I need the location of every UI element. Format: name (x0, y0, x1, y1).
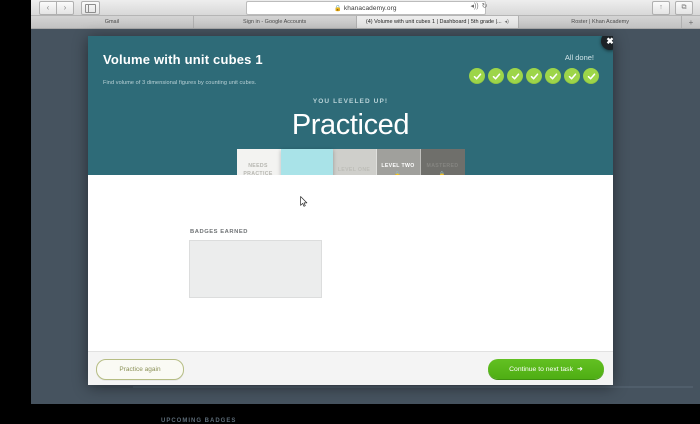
tab-roster-khan-academy[interactable]: Roster | Khan Academy (519, 16, 682, 28)
screen: UPCOMING BADGES ‹ › 🔒 khanacademy.org ◂)… (0, 0, 700, 404)
tab-label: Roster | Khan Academy (571, 19, 629, 25)
continue-button-label: Continue to next task (509, 366, 573, 373)
modal-header: Volume with unit cubes 1 Find volume of … (88, 36, 613, 175)
arrow-right-icon: ➜ (577, 365, 583, 373)
level-tile-label: LEVEL TWO (381, 163, 414, 171)
level-tile-label: LEVEL ONE (338, 167, 370, 175)
continue-to-next-task-button[interactable]: Continue to next task ➜ (488, 359, 604, 379)
tab-volume-unit-cubes[interactable]: (4) Volume with unit cubes 1 | Dashboard… (357, 16, 520, 28)
modal-footer: Practice again Continue to next task ➜ (88, 351, 613, 385)
back-button[interactable]: ‹ (39, 1, 57, 15)
level-name-heading: Practiced (88, 109, 613, 142)
tab-google-signin[interactable]: Sign in - Google Accounts (194, 16, 357, 28)
check-icon (545, 68, 561, 84)
practice-again-button[interactable]: Practice again (96, 359, 184, 380)
progress-checks (469, 68, 599, 84)
tab-strip: Gmail Sign in - Google Accounts (4) Volu… (31, 16, 700, 28)
mouse-cursor (300, 196, 308, 207)
upcoming-badges-label: UPCOMING BADGES (161, 418, 236, 424)
check-icon (526, 68, 542, 84)
tab-label: Sign in - Google Accounts (243, 19, 306, 25)
browser-toolbar: ‹ › 🔒 khanacademy.org ◂)) ↻ ↑ ⧉ (31, 0, 700, 16)
check-icon (507, 68, 523, 84)
leveled-up-label: YOU LEVELED UP! (88, 98, 613, 105)
browser-chrome: ‹ › 🔒 khanacademy.org ◂)) ↻ ↑ ⧉ Gmail (31, 0, 700, 29)
check-icon (469, 68, 485, 84)
badges-earned-container (189, 240, 322, 298)
ghost-divider (133, 386, 693, 388)
new-tab-button[interactable]: + (682, 16, 700, 28)
check-icon (583, 68, 599, 84)
level-up-modal: ✖ Volume with unit cubes 1 Find volume o… (88, 36, 613, 385)
check-icon (564, 68, 580, 84)
navigation-buttons: ‹ › (39, 1, 100, 15)
reload-icon[interactable]: ↻ (482, 2, 488, 12)
sidebar-toggle-icon[interactable] (81, 1, 100, 15)
modal-subtitle: Find volume of 3 dimensional figures by … (103, 80, 256, 86)
tab-label: (4) Volume with unit cubes 1 | Dashboard… (366, 19, 502, 25)
toolbar-right-buttons: ↑ ⧉ (652, 1, 693, 15)
modal-body: BADGES EARNED (88, 175, 613, 351)
badges-earned-label: BADGES EARNED (190, 229, 248, 235)
sidebar-icon (85, 4, 96, 13)
level-tile-label: MASTERED (427, 163, 459, 171)
lock-icon: 🔒 (334, 6, 341, 12)
forward-button[interactable]: › (57, 1, 74, 15)
share-icon[interactable]: ↑ (652, 1, 670, 15)
url-text: khanacademy.org (344, 5, 397, 12)
address-bar[interactable]: 🔒 khanacademy.org (246, 1, 486, 15)
show-tabs-icon[interactable]: ⧉ (675, 1, 693, 15)
all-done-label: All done! (565, 53, 594, 62)
check-icon (488, 68, 504, 84)
tab-mute-icon[interactable]: ◂) (505, 19, 509, 25)
audio-playing-icon[interactable]: ◂)) (470, 2, 478, 12)
tab-gmail[interactable]: Gmail (31, 16, 194, 28)
address-bar-icons: ◂)) ↻ (470, 2, 487, 12)
tab-label: Gmail (105, 19, 119, 25)
modal-title: Volume with unit cubes 1 (103, 52, 263, 67)
